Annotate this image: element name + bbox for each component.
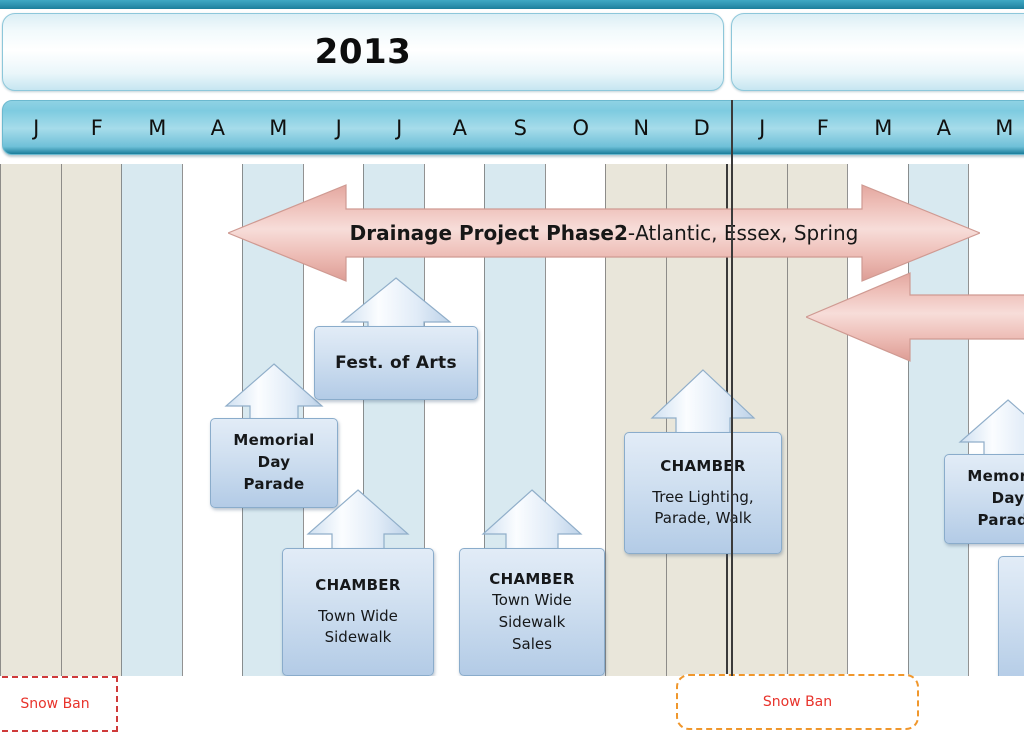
callout-chamber-2014-partial[interactable]: S <box>998 556 1024 676</box>
callout-memorial-day-parade-2014[interactable]: Memorial Day Parade <box>944 396 1024 544</box>
grid-line-2 <box>121 164 122 676</box>
callout-line: Town Wide <box>287 606 429 628</box>
month-cell-2013-M-2[interactable]: M <box>127 100 188 155</box>
month-label: N <box>633 116 649 140</box>
month-cell-2013-A-3[interactable]: A <box>188 100 249 155</box>
month-label: A <box>453 116 467 140</box>
month-cell-2013-J-5[interactable]: J <box>309 100 370 155</box>
callout-fest-of-arts[interactable]: Fest. of Arts <box>314 274 478 400</box>
year-tab-2014[interactable] <box>731 13 1024 91</box>
month-cell-2014-M-14[interactable]: M <box>853 100 914 155</box>
month-cell-2013-J-0[interactable]: J <box>6 100 67 155</box>
callout-line: Sidewalk <box>287 627 429 649</box>
callout-line: Memorial <box>215 430 333 452</box>
callout-line: Sales <box>464 634 600 656</box>
callout-chamber-2014-partial-box: S <box>998 556 1024 676</box>
callout-chamber-sidewalk-sales[interactable]: CHAMBER Town Wide Sidewalk Sales <box>459 486 605 676</box>
column-stripe-2 <box>121 164 182 676</box>
column-stripe-0 <box>0 164 61 676</box>
callout-fest-of-arts-box: Fest. of Arts <box>314 326 478 400</box>
month-label: M <box>269 116 287 140</box>
year-tab-2013[interactable]: 2013 <box>2 13 724 91</box>
year-label-2013: 2013 <box>315 32 412 72</box>
snow-ban-label: Snow Ban <box>20 696 89 712</box>
month-cell-2013-J-6[interactable]: J <box>369 100 430 155</box>
snow-ban-winter-2014[interactable]: Snow Ban <box>676 674 919 730</box>
month-cell-2014-F-13[interactable]: F <box>793 100 854 155</box>
month-cell-2014-M-16[interactable]: M <box>974 100 1024 155</box>
column-stripe-1 <box>61 164 122 676</box>
year-tab-row: 2013 <box>0 13 1024 93</box>
month-cell-2013-D-11[interactable]: D <box>672 100 733 155</box>
month-label: J <box>336 116 342 140</box>
month-label: O <box>572 116 589 140</box>
month-cell-2013-N-10[interactable]: N <box>611 100 672 155</box>
month-cell-2014-A-15[interactable]: A <box>914 100 975 155</box>
callout-line: Day <box>215 452 333 474</box>
month-label: A <box>937 116 951 140</box>
callout-chamber-tree-lighting[interactable]: CHAMBER Tree Lighting, Parade, Walk <box>624 366 782 554</box>
top-accent-rule <box>0 0 1024 9</box>
month-cell-2013-M-4[interactable]: M <box>248 100 309 155</box>
month-label: M <box>874 116 892 140</box>
month-label-row: JFMAMJJASONDJFMAM <box>0 100 1024 155</box>
callout-chamber-town-wide-sidewalk-box: CHAMBER Town Wide Sidewalk <box>282 548 434 676</box>
month-label: F <box>817 116 829 140</box>
month-cell-2013-S-8[interactable]: S <box>490 100 551 155</box>
callout-line: S <box>1003 610 1024 632</box>
month-label: F <box>91 116 103 140</box>
month-label: J <box>759 116 765 140</box>
month-label: S <box>514 116 527 140</box>
drainage-phase3-arrow[interactable]: D <box>806 268 1024 366</box>
callout-line: CHAMBER <box>464 569 600 591</box>
grid-line-3 <box>182 164 183 676</box>
month-label: M <box>148 116 166 140</box>
callout-line: Sidewalk <box>464 612 600 634</box>
year-divider-line <box>731 100 733 676</box>
callout-line: Tree Lighting, <box>629 487 777 509</box>
callout-chamber-tree-lighting-box: CHAMBER Tree Lighting, Parade, Walk <box>624 432 782 554</box>
timeline-canvas: 2013 JFMAMJJASONDJFMAM <box>0 0 1024 752</box>
callout-line: Memorial <box>949 466 1024 488</box>
month-cell-2013-O-9[interactable]: O <box>551 100 612 155</box>
month-label: J <box>33 116 39 140</box>
callout-line: Parade, Walk <box>629 508 777 530</box>
callout-line: Fest. of Arts <box>319 351 473 376</box>
callout-line: Day <box>949 488 1024 510</box>
month-cell-2014-J-12[interactable]: J <box>732 100 793 155</box>
snow-ban-winter-2013[interactable]: Snow Ban <box>0 676 118 732</box>
callout-chamber-sidewalk-sales-box: CHAMBER Town Wide Sidewalk Sales <box>459 548 605 676</box>
month-label: D <box>694 116 710 140</box>
grid-line-1 <box>61 164 62 676</box>
callout-line: CHAMBER <box>629 456 777 478</box>
month-label: J <box>396 116 402 140</box>
timeline-plot-area: Drainage Project Phase2 - Atlantic, Esse… <box>0 164 1024 676</box>
callout-chamber-town-wide-sidewalk[interactable]: CHAMBER Town Wide Sidewalk <box>282 486 434 676</box>
month-cell-2013-A-7[interactable]: A <box>430 100 491 155</box>
callout-line: Parade <box>949 510 1024 532</box>
callout-line: CHAMBER <box>287 575 429 597</box>
callout-line: Town Wide <box>464 590 600 612</box>
month-cell-2013-F-1[interactable]: F <box>67 100 128 155</box>
month-label: M <box>995 116 1013 140</box>
grid-line-0 <box>0 164 1 676</box>
callout-memorial-day-parade-2014-box: Memorial Day Parade <box>944 454 1024 544</box>
month-label: A <box>211 116 225 140</box>
snow-ban-label: Snow Ban <box>763 694 832 710</box>
